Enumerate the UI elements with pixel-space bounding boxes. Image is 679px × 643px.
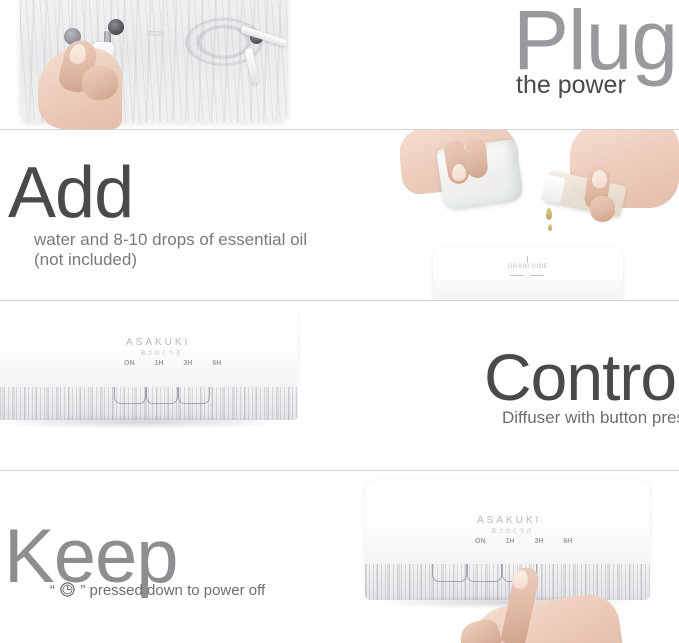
quote-close-and-text: ” pressed down to power off bbox=[80, 582, 265, 599]
base-button-1-keep[interactable] bbox=[432, 564, 467, 582]
panel-plug: Plug the power bbox=[0, 0, 679, 129]
brand-logo-keep: ASAKUKI bbox=[477, 515, 541, 526]
finger-over-cup-2 bbox=[465, 137, 489, 178]
base-button-3[interactable] bbox=[178, 387, 210, 404]
quote-open: “ bbox=[50, 582, 55, 599]
brand-logo-jp: あさのくうき bbox=[140, 348, 182, 357]
control-button-labels: ON 1H 3H 6H bbox=[124, 360, 221, 367]
drain-arrow-icon bbox=[527, 256, 528, 263]
control-label-1h[interactable]: 1H bbox=[155, 360, 164, 367]
clock-icon bbox=[59, 581, 76, 602]
control-label-on[interactable]: ON bbox=[124, 360, 135, 367]
photo-plug-the-power bbox=[0, 0, 300, 129]
control-label-on-keep[interactable]: ON bbox=[475, 538, 486, 545]
finger-nail-bottle bbox=[592, 170, 607, 188]
control-label-6h[interactable]: 6H bbox=[212, 360, 221, 367]
oil-drop bbox=[546, 208, 552, 220]
base-button-2-keep[interactable] bbox=[467, 564, 502, 582]
subtitle-keep: “ ” pressed down to power off bbox=[50, 581, 265, 602]
drain-underline-left bbox=[510, 275, 524, 276]
control-label-6h-keep[interactable]: 6H bbox=[563, 538, 572, 545]
brand-logo-jp-keep: あさのくうき bbox=[491, 526, 533, 535]
subtitle-add-line1: water and 8-10 drops of essential oil bbox=[34, 230, 307, 250]
drain-underline-right bbox=[530, 275, 544, 276]
control-label-1h-keep[interactable]: 1H bbox=[506, 538, 515, 545]
subtitle-plug: the power bbox=[516, 71, 626, 100]
finger-nail-cup bbox=[452, 164, 466, 181]
panel-add: Add water and 8-10 drops of essential oi… bbox=[0, 130, 679, 300]
heading-control: Control bbox=[484, 339, 679, 415]
control-label-3h-keep[interactable]: 3H bbox=[534, 538, 543, 545]
panel-control: ASAKUKI あさのくうき ON 1H 3H 6H Control Diffu… bbox=[0, 301, 679, 470]
heading-add: Add bbox=[8, 152, 133, 234]
oil-drop-2 bbox=[548, 224, 552, 231]
photo-add-water-and-oil: DRAIN SIDE bbox=[400, 130, 679, 300]
subtitle-add-line2: (not included) bbox=[34, 250, 137, 270]
base-button-2[interactable] bbox=[146, 387, 178, 404]
control-button-labels-keep: ON 1H 3H 6H bbox=[475, 538, 572, 545]
panel-slot bbox=[148, 31, 164, 36]
diffuser-top bbox=[433, 247, 623, 300]
photo-control-diffuser: ASAKUKI あさのくうき ON 1H 3H 6H bbox=[0, 301, 340, 470]
drain-side-label: DRAIN SIDE bbox=[508, 264, 548, 270]
control-label-3h[interactable]: 3H bbox=[183, 360, 192, 367]
subtitle-control: Diffuser with button press bbox=[502, 408, 679, 428]
diffuser-shadow bbox=[0, 415, 290, 429]
panel-keep: Keep “ ” pressed down to power off ASAKU… bbox=[0, 471, 679, 643]
brand-logo: ASAKUKI bbox=[126, 337, 190, 348]
photo-keep-press-button: ASAKUKI あさのくうき ON 1H 3H 6H bbox=[330, 471, 679, 643]
finger-bottle-2 bbox=[590, 196, 615, 222]
base-button-1[interactable] bbox=[114, 387, 146, 404]
